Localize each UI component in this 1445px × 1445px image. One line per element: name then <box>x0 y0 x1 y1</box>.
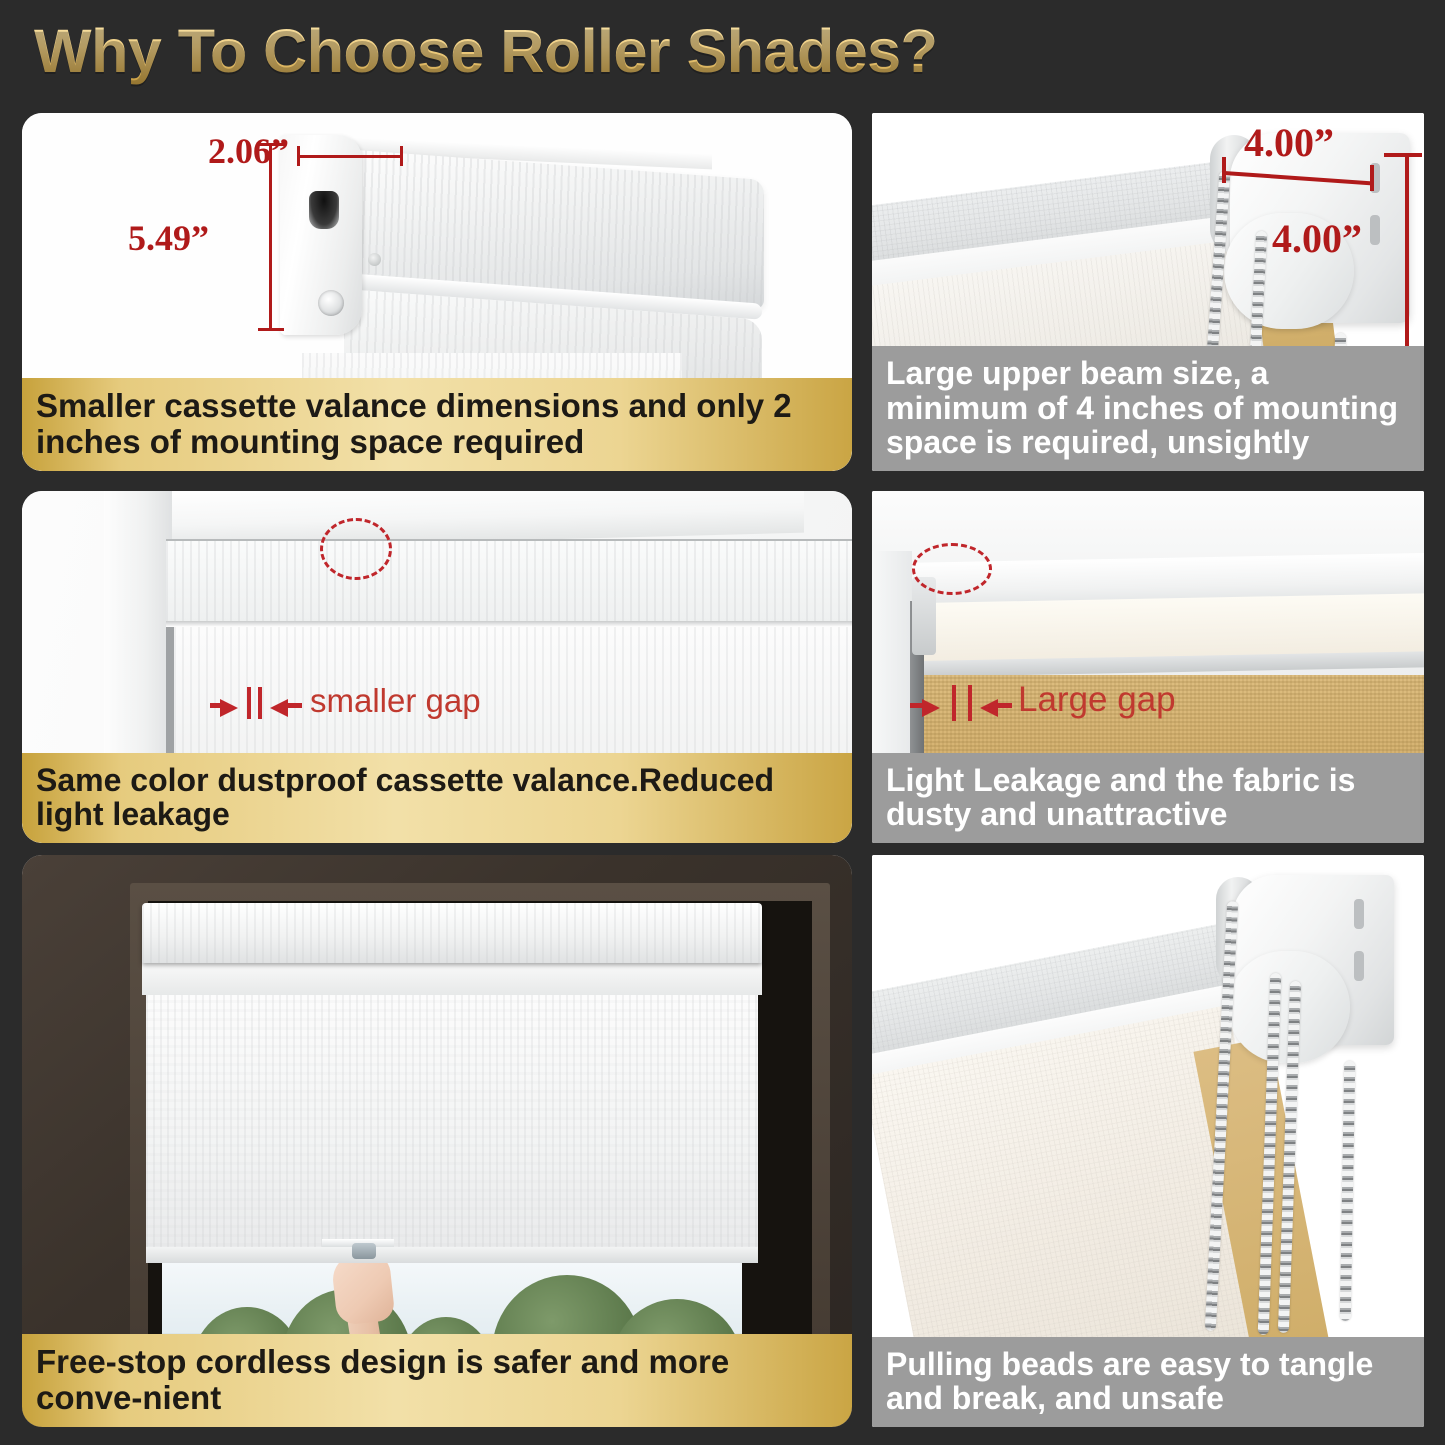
gap-arrow-left-icon <box>980 699 998 717</box>
depth-dimension-line <box>297 155 403 158</box>
panel-caption: Smaller cassette valance dimensions and … <box>22 378 852 471</box>
panel-large-beam: 4.00” 4.00” Large upper beam size, a min… <box>872 113 1424 471</box>
gap-arrow-tail <box>210 703 224 708</box>
height-dimension-label: 5.49” <box>128 217 209 259</box>
caption-text: Same color dustproof cassette valance.Re… <box>36 763 838 831</box>
width-dimension-tick-left <box>1222 157 1226 183</box>
caption-text: Pulling beads are easy to tangle and bre… <box>886 1347 1410 1415</box>
panel-caption: Free-stop cordless design is safer and m… <box>22 1334 852 1427</box>
gap-marker <box>968 685 972 721</box>
gap-arrow-right-icon <box>922 699 940 717</box>
gap-arrow-left-icon <box>270 699 288 717</box>
height-dimension-tick-top <box>1384 153 1422 157</box>
panel-smaller-gap: smaller gap Same color dustproof cassett… <box>22 491 852 843</box>
panel-caption: Large upper beam size, a minimum of 4 in… <box>872 346 1424 471</box>
depth-dimension-tick-left <box>297 146 300 166</box>
panel-cordless-design: Free-stop cordless design is safer and m… <box>22 855 852 1427</box>
height-dimension-line <box>1405 155 1409 355</box>
caption-text: Light Leakage and the fabric is dusty an… <box>886 763 1410 831</box>
caption-text: Free-stop cordless design is safer and m… <box>36 1344 838 1415</box>
infographic-root: Why To Choose Roller Shades? 5.49” 2.06” <box>0 0 1445 1445</box>
height-dimension-label: 4.00” <box>1272 215 1362 262</box>
panel-caption: Pulling beads are easy to tangle and bre… <box>872 1337 1424 1427</box>
gap-arrow-tail <box>288 703 302 708</box>
shade-pull-grip[interactable] <box>352 1243 376 1259</box>
caption-text: Large upper beam size, a minimum of 4 in… <box>886 356 1410 459</box>
panel-cassette-dimensions: 5.49” 2.06” Smaller cassette valance dim… <box>22 113 852 471</box>
panel-caption: Light Leakage and the fabric is dusty an… <box>872 753 1424 843</box>
gap-marker <box>952 685 956 721</box>
depth-dimension-tick-right <box>400 146 403 166</box>
gap-arrow-right-icon <box>220 699 238 717</box>
gap-marker <box>258 687 262 719</box>
panel-large-gap: Large gap Light Leakage and the fabric i… <box>872 491 1424 843</box>
height-dimension-tick-bottom <box>258 328 284 331</box>
caption-text: Smaller cassette valance dimensions and … <box>36 388 838 459</box>
gap-callout-label: Large gap <box>1018 680 1176 720</box>
panel-caption: Same color dustproof cassette valance.Re… <box>22 753 852 843</box>
page-title: Why To Choose Roller Shades? <box>34 16 937 86</box>
panel-pulling-beads: Pulling beads are easy to tangle and bre… <box>872 855 1424 1427</box>
gap-callout-label: smaller gap <box>310 682 481 720</box>
depth-dimension-label: 2.06” <box>208 130 289 172</box>
gap-arrow-tail <box>910 703 926 708</box>
width-dimension-tick-right <box>1370 165 1374 191</box>
gap-marker <box>247 687 251 719</box>
gap-highlight-circle <box>912 543 992 595</box>
gap-highlight-circle <box>320 518 392 580</box>
width-dimension-label: 4.00” <box>1244 119 1334 166</box>
gap-arrow-tail <box>998 703 1012 708</box>
